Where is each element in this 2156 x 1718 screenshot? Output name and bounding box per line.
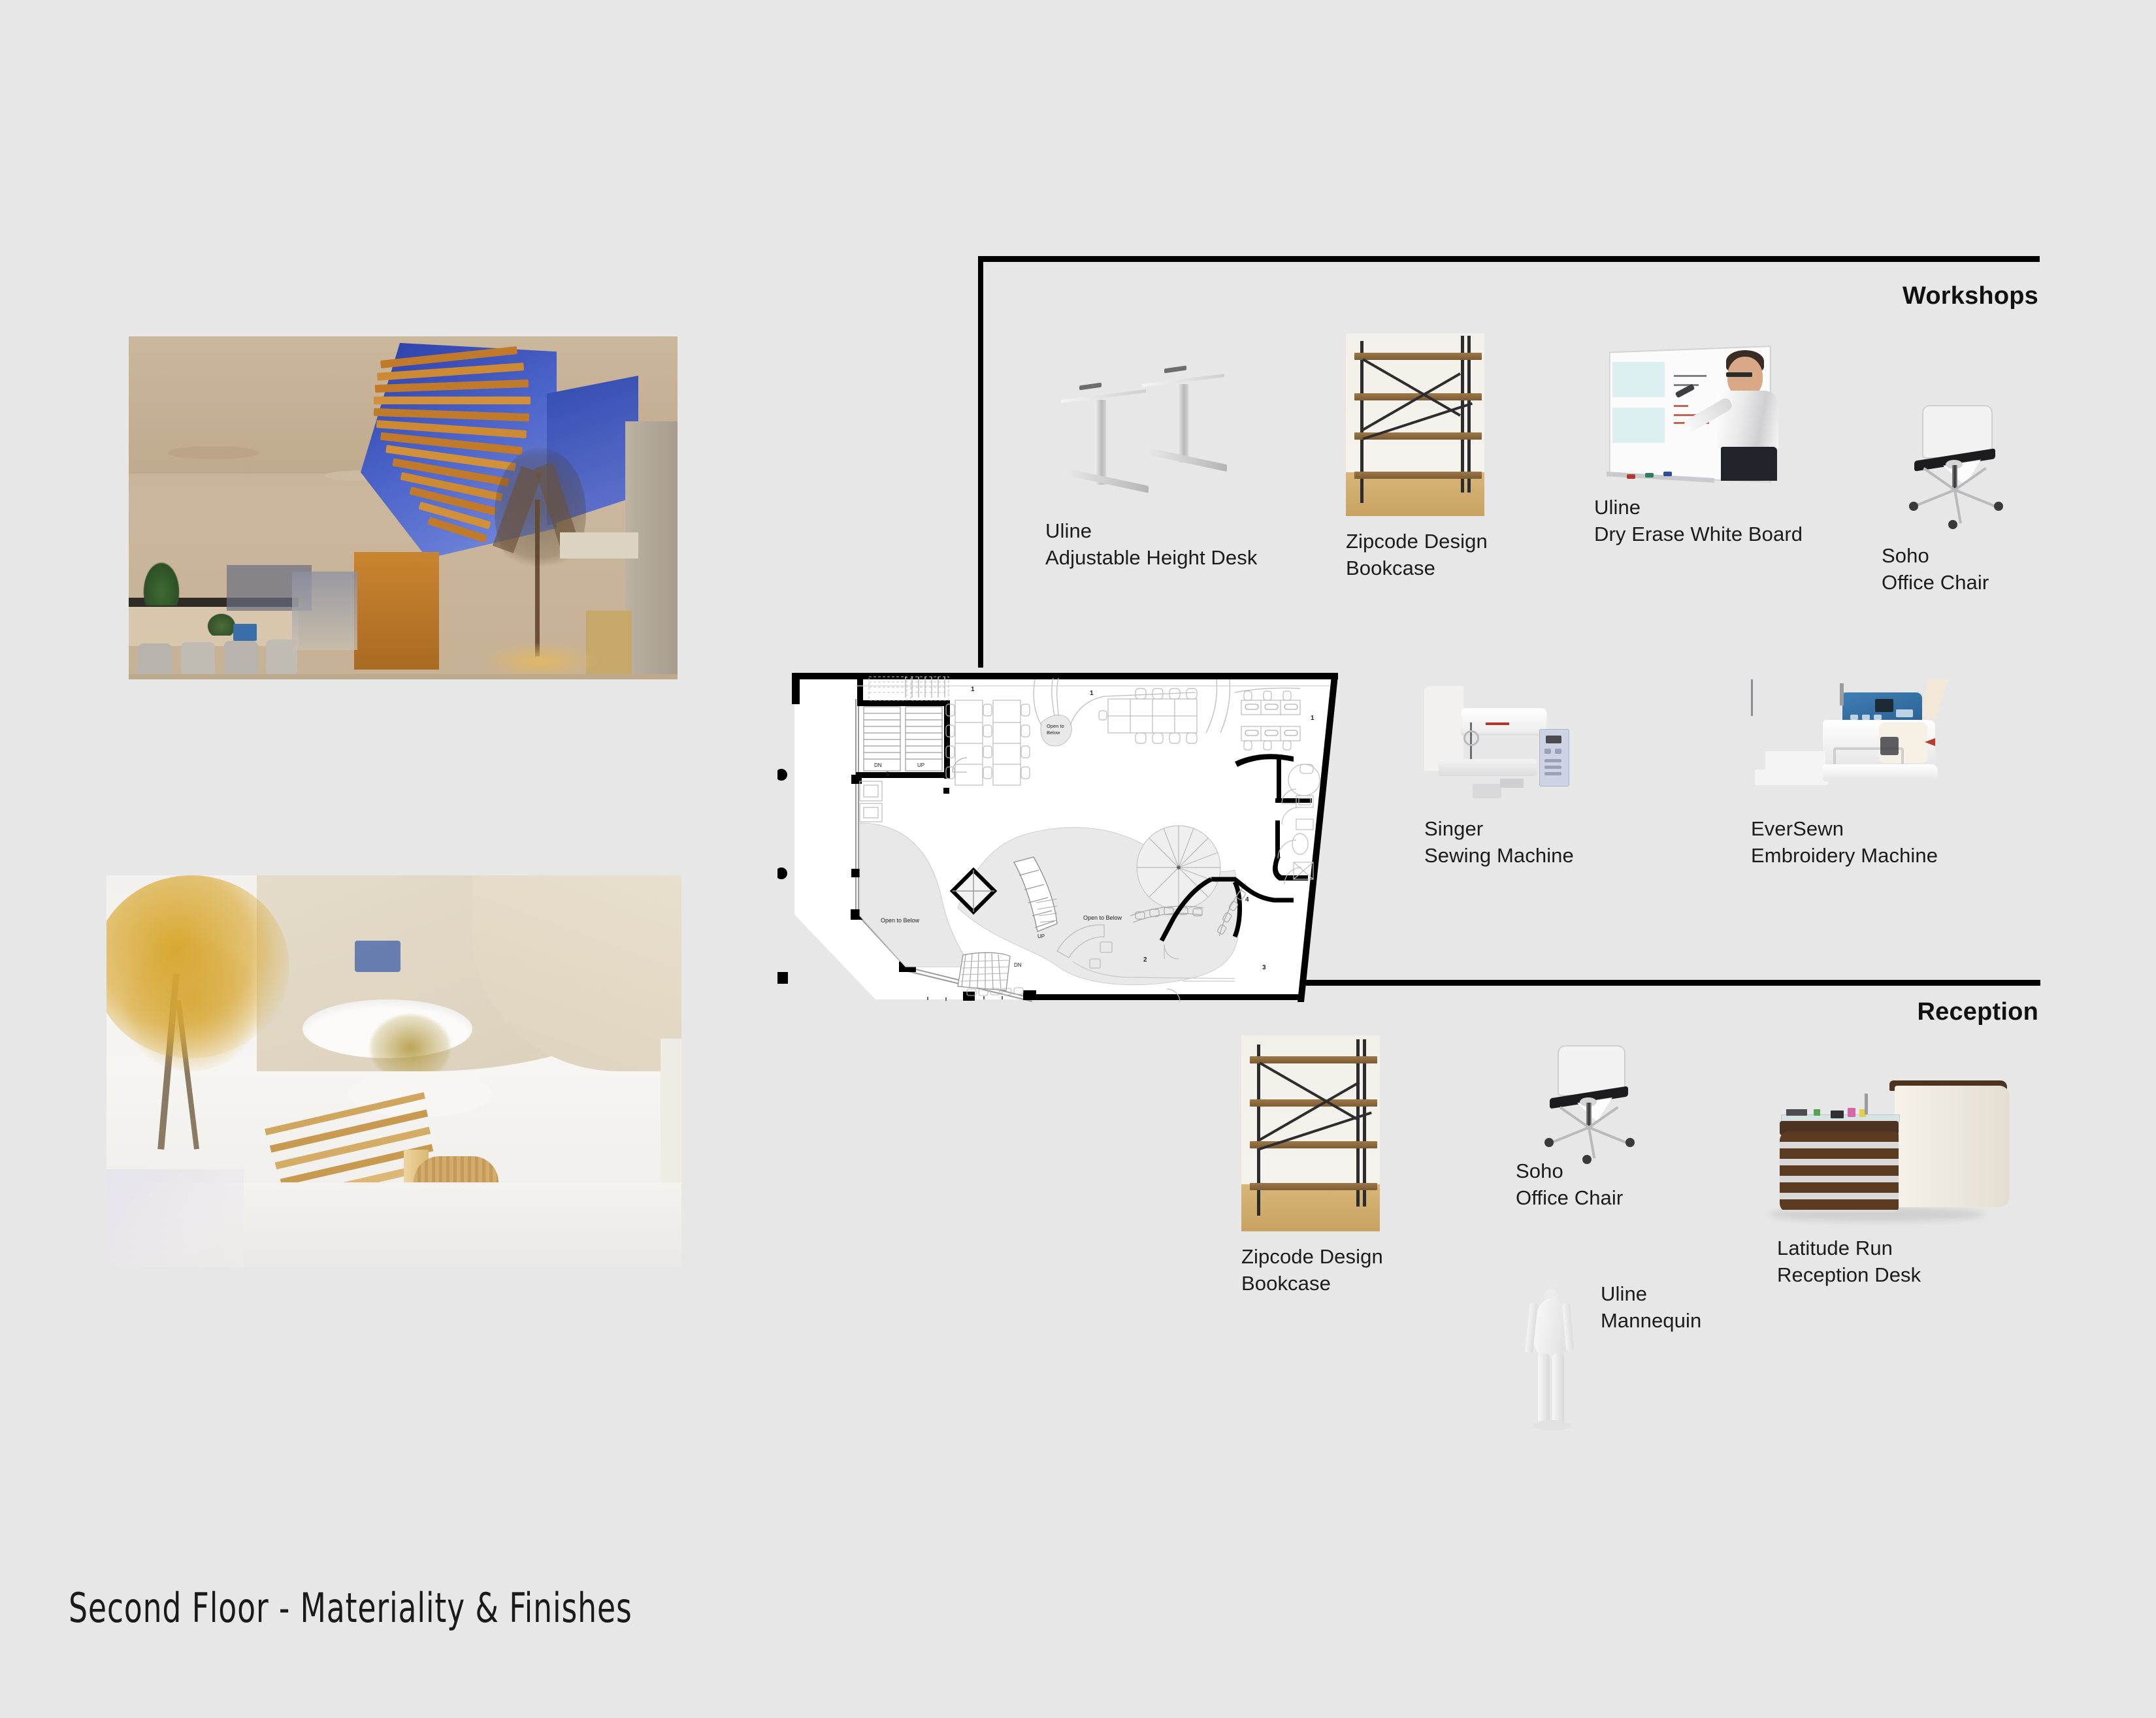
product-caption: Uline Dry Erase White Board [1594,494,1875,547]
product-caption: Uline Mannequin [1601,1280,1849,1334]
product-embroidery-machine[interactable]: EverSewn Embroidery Machine [1751,679,2012,875]
column-marker [777,972,788,984]
workshops-top-rule [978,256,2040,262]
sewing-machine-icon [1424,686,1614,810]
room-tag-1a: 1 [971,686,975,693]
product-sewing-machine[interactable]: Singer Sewing Machine [1424,686,1646,875]
product-caption: EverSewn Embroidery Machine [1751,815,2012,869]
svg-text:Below: Below [1047,730,1060,736]
product-caption: Uline Adjustable Height Desk [1045,517,1307,571]
plan-annotation-open-to-below-center: Open to Below [1083,915,1122,921]
workshops-connector-rule [978,256,983,668]
svg-text:UP: UP [917,762,924,768]
render-top [129,336,678,679]
bookcase-icon [1346,333,1484,516]
product-dry-erase-white-board[interactable]: Uline Dry Erase White Board [1594,340,1875,562]
room-tag-5: 5 [886,771,889,777]
mannequin-icon [1509,1280,1594,1444]
room-tag-1b: 1 [1090,690,1094,697]
product-caption: Singer Sewing Machine [1424,815,1646,869]
product-caption: Zipcode Design Bookcase [1241,1243,1457,1297]
column-marker [777,769,787,781]
adjustable-height-desk-icon [1045,346,1241,510]
presentation-board: Workshops Reception Uline Adjustable Hei… [0,0,2156,1718]
product-office-chair-reception[interactable]: Soho Office Chair [1516,1045,1725,1241]
render-bottom [106,875,681,1267]
section-title-reception: Reception [1777,998,2038,1026]
svg-text:DN: DN [1014,962,1022,968]
plan-annotation-open-to-below-left: Open to Below [881,917,920,924]
room-tag-1c: 1 [1311,715,1315,722]
office-chair-icon [1882,405,2032,536]
product-mannequin[interactable]: Uline Mannequin [1516,1280,1764,1463]
svg-text:Open to: Open to [1047,723,1064,729]
product-reception-desk[interactable]: Latitude Run Reception Desk [1764,1071,2038,1287]
product-caption: Zipcode Design Bookcase [1346,528,1561,581]
product-adjustable-height-desk[interactable]: Uline Adjustable Height Desk [1045,346,1307,581]
reception-desk-icon [1764,1071,2025,1228]
column-marker [777,867,787,879]
room-tag-2: 2 [1143,956,1147,964]
room-tag-4: 4 [1245,896,1249,903]
embroidery-machine-icon [1751,679,1980,810]
bookcase-icon [1241,1035,1380,1231]
product-caption: Soho Office Chair [1882,542,2091,596]
page-title: Second Floor - Materiality & Finishes [69,1584,632,1632]
room-tag-3: 3 [1262,964,1266,971]
svg-text:DN: DN [874,762,882,768]
section-title-workshops: Workshops [1777,282,2038,310]
product-caption: Soho Office Chair [1516,1158,1725,1211]
product-office-chair-workshops[interactable]: Soho Office Chair [1882,405,2091,601]
office-chair-icon [1516,1045,1666,1169]
dry-erase-white-board-icon [1594,340,1810,490]
product-bookcase-reception[interactable]: Zipcode Design Bookcase [1241,1035,1457,1297]
svg-text:UP: UP [1037,933,1045,939]
second-floor-plan[interactable]: DN UP 5 Open to Below Open to Below [777,660,1352,1026]
product-bookcase-workshops[interactable]: Zipcode Design Bookcase [1346,333,1561,588]
